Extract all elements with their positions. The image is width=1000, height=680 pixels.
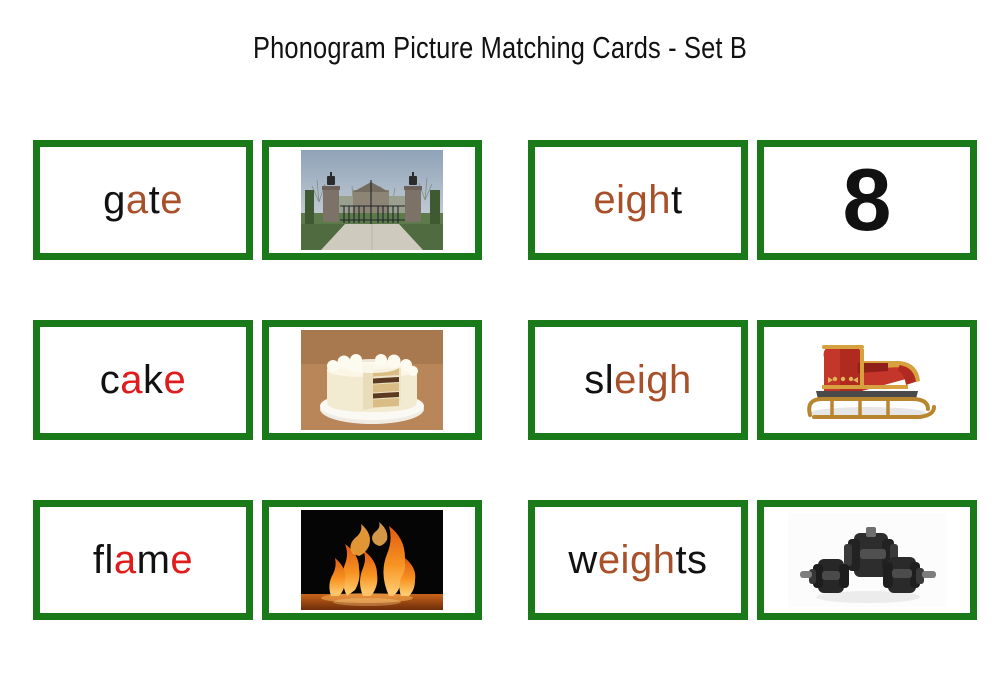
word-segment: w (568, 538, 597, 582)
gate-photo-icon (301, 150, 443, 250)
word-card-weights[interactable]: weights (528, 500, 748, 620)
word-segment: m (137, 538, 171, 582)
picture-card-gate[interactable] (262, 140, 482, 260)
word-card-sleigh[interactable]: sleigh (528, 320, 748, 440)
word-card-cake[interactable]: cake (33, 320, 253, 440)
word-segment: eigh (598, 538, 676, 582)
picture-card-flame[interactable] (262, 500, 482, 620)
word-text-sleigh: sleigh (584, 360, 692, 400)
word-text-gate: gate (103, 180, 183, 220)
picture-card-sleigh[interactable] (757, 320, 977, 440)
flame-photo-icon (301, 510, 443, 610)
word-segment: a (114, 538, 137, 582)
word-text-cake: cake (100, 360, 187, 400)
word-segment: e (164, 358, 187, 402)
word-text-eight: eight (593, 180, 682, 220)
word-card-eight[interactable]: eight (528, 140, 748, 260)
picture-card-numeral-eight[interactable]: 8 (757, 140, 977, 260)
word-segment: a (126, 178, 149, 222)
word-text-flame: flame (93, 540, 193, 580)
word-segment: eigh (593, 178, 671, 222)
word-segment: e (160, 178, 183, 222)
cake-photo-icon (301, 330, 443, 430)
word-segment: sl (584, 358, 614, 402)
word-segment: t (149, 178, 161, 222)
word-segment: g (103, 178, 126, 222)
picture-card-cake[interactable] (262, 320, 482, 440)
word-segment: t (671, 178, 683, 222)
word-segment: e (170, 538, 193, 582)
word-segment: k (143, 358, 164, 402)
word-segment: fl (93, 538, 114, 582)
sleigh-photo-icon (788, 333, 946, 427)
word-segment: eigh (614, 358, 692, 402)
card-row: cake (33, 320, 981, 440)
word-segment: ts (675, 538, 707, 582)
weights-photo-icon (788, 513, 946, 607)
word-segment: a (120, 358, 143, 402)
word-card-gate[interactable]: gate (33, 140, 253, 260)
card-grid: gate (33, 140, 981, 680)
picture-card-weights[interactable] (757, 500, 977, 620)
word-card-flame[interactable]: flame (33, 500, 253, 620)
page-title: Phonogram Picture Matching Cards - Set B (90, 30, 910, 66)
numeral-eight: 8 (843, 156, 892, 244)
card-row: gate (33, 140, 981, 260)
word-text-weights: weights (568, 540, 707, 580)
word-segment: c (100, 358, 121, 402)
card-row: flame (33, 500, 981, 620)
